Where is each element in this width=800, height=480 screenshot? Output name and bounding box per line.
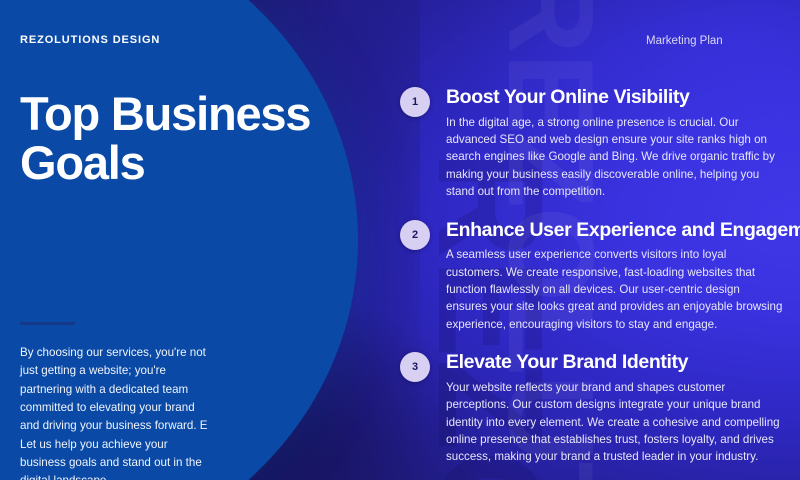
goal-body: Your website reflects your brand and sha… xyxy=(446,379,784,466)
page-title-line-2: Goals xyxy=(20,139,350,188)
brand-logotype: REZOLUTIONS DESIGN xyxy=(20,34,160,46)
goal-item: 3 Elevate Your Brand Identity Your websi… xyxy=(400,351,800,466)
slide-canvas: REZOLUTIONS REZOLUTIONS REZOLUTIONS DESI… xyxy=(0,0,800,480)
lead-paragraph: By choosing our services, you're not jus… xyxy=(20,344,216,480)
goals-list: 1 Boost Your Online Visibility In the di… xyxy=(400,86,800,466)
goal-number-badge: 2 xyxy=(400,220,430,250)
goal-title: Elevate Your Brand Identity xyxy=(446,351,800,374)
plan-label: Marketing Plan xyxy=(646,35,723,47)
goal-body: In the digital age, a strong online pres… xyxy=(446,114,784,201)
goal-number-badge: 3 xyxy=(400,352,430,382)
goal-title: Enhance User Experience and Engagement xyxy=(446,219,800,242)
page-title: Top Business Goals xyxy=(20,90,350,188)
goal-title: Boost Your Online Visibility xyxy=(446,86,800,109)
goal-item: 2 Enhance User Experience and Engagement… xyxy=(400,219,800,334)
title-divider-rule xyxy=(20,322,75,325)
goal-body: A seamless user experience converts visi… xyxy=(446,246,784,333)
page-title-line-1: Top Business xyxy=(20,90,350,139)
goal-number-badge: 1 xyxy=(400,87,430,117)
goal-item: 1 Boost Your Online Visibility In the di… xyxy=(400,86,800,201)
